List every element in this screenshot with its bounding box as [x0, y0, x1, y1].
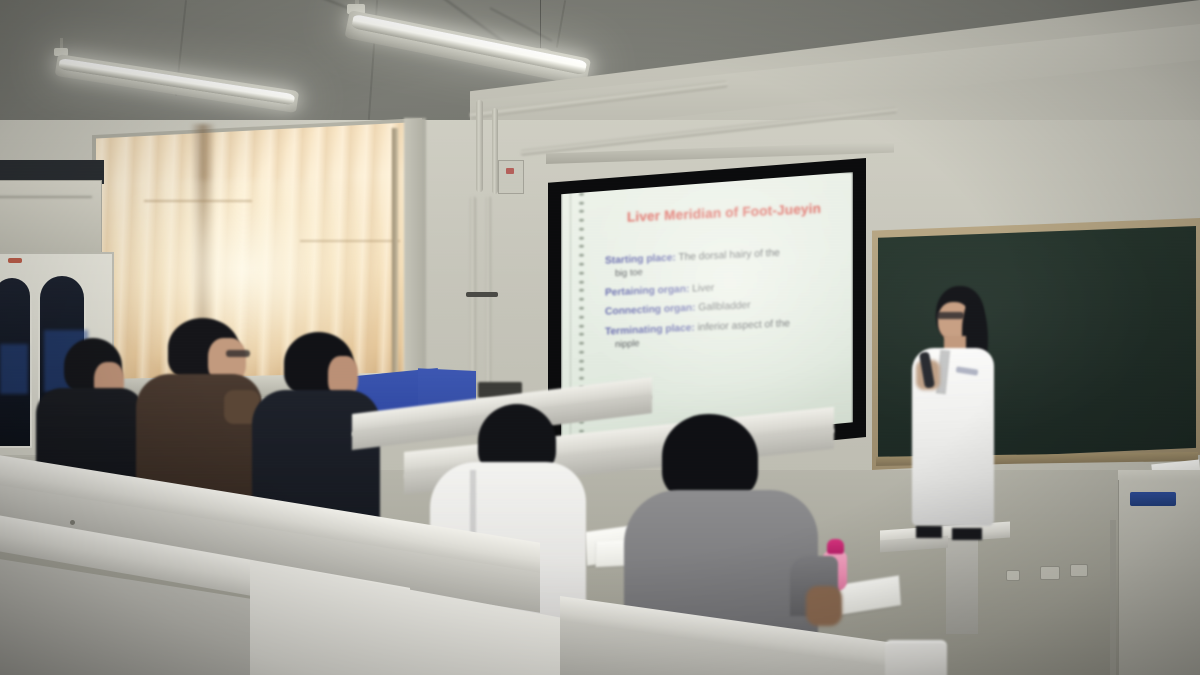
slide-bullet-value: Liver	[689, 282, 714, 294]
spiral-hole	[579, 289, 584, 292]
cabinet-latch[interactable]	[8, 258, 22, 263]
slide-bullet-label: Connecting organ:	[605, 303, 696, 318]
wall-pipe-vertical	[476, 100, 483, 192]
spiral-hole	[579, 227, 584, 230]
pipe-bracket	[466, 292, 498, 297]
spiral-hole	[579, 359, 584, 362]
classroom-photo: Liver Meridian of Foot-Jueyin Starting p…	[0, 0, 1200, 675]
power-outlet[interactable]	[1006, 570, 1020, 581]
student-glasses	[226, 350, 250, 357]
spiral-hole	[579, 307, 584, 310]
slide-title: Liver Meridian of Foot-Jueyin	[605, 200, 843, 226]
spiral-hole	[579, 210, 584, 213]
slide-body: Starting place: The dorsal hairy of theb…	[605, 243, 853, 357]
presenter-glasses	[936, 312, 964, 319]
spiral-hole	[579, 236, 584, 239]
slide-bullet: Starting place: The dorsal hairy of theb…	[605, 243, 853, 280]
waste-bin[interactable]	[885, 640, 947, 675]
student-hair	[662, 414, 758, 502]
spiral-hole	[579, 324, 584, 327]
wall-pipe-vertical	[486, 196, 491, 384]
spiral-hole	[579, 368, 584, 371]
wall-pipe-vertical	[470, 196, 476, 386]
spiral-hole	[579, 280, 584, 283]
spiral-hole	[579, 298, 584, 301]
student-hand	[806, 586, 842, 626]
hanging-wire	[540, 0, 541, 54]
slide-bullet-label: Starting place:	[605, 252, 676, 266]
spiral-hole	[579, 342, 584, 345]
power-outlet[interactable]	[1070, 564, 1088, 577]
water-bottle-cap[interactable]	[827, 539, 844, 554]
spiral-hole	[579, 350, 584, 353]
presenter-trousers	[916, 526, 942, 538]
spiral-hole	[579, 245, 584, 248]
slide-bullet-value: inferior aspect of the	[695, 318, 790, 333]
presenter-trousers	[952, 528, 982, 540]
power-outlet[interactable]	[1040, 566, 1060, 580]
spiral-hole	[579, 192, 584, 195]
spiral-hole	[579, 333, 584, 336]
conduit-box	[498, 160, 524, 194]
desk-screw	[70, 520, 75, 525]
office-machine[interactable]	[1118, 480, 1200, 675]
curtain-rod-end	[392, 128, 398, 378]
cabinet-shelf-line	[0, 196, 92, 198]
cabinet-upper	[0, 180, 102, 254]
copier-edge	[1110, 520, 1116, 675]
spiral-hole	[579, 271, 584, 274]
slide-bullet-value: Gallbladder	[696, 300, 751, 313]
spiral-hole	[579, 219, 584, 222]
copier-label	[1130, 492, 1176, 506]
slide-bullet-label: Terminating place:	[605, 322, 695, 337]
spiral-hole	[579, 315, 584, 318]
spiral-hole	[579, 201, 584, 204]
cabinet-contents	[0, 344, 28, 394]
spiral-hole	[579, 377, 584, 380]
wall-column	[404, 118, 426, 383]
slide-bullet-label: Pertaining organ:	[605, 283, 689, 298]
front-desk-leg	[946, 538, 978, 634]
window-mullion	[300, 240, 400, 242]
slide-bullet: Terminating place: inferior aspect of th…	[605, 314, 853, 351]
spiral-hole	[579, 263, 584, 266]
spiral-hole	[579, 254, 584, 257]
conduit-label	[506, 168, 514, 174]
window-mullion	[144, 200, 252, 202]
